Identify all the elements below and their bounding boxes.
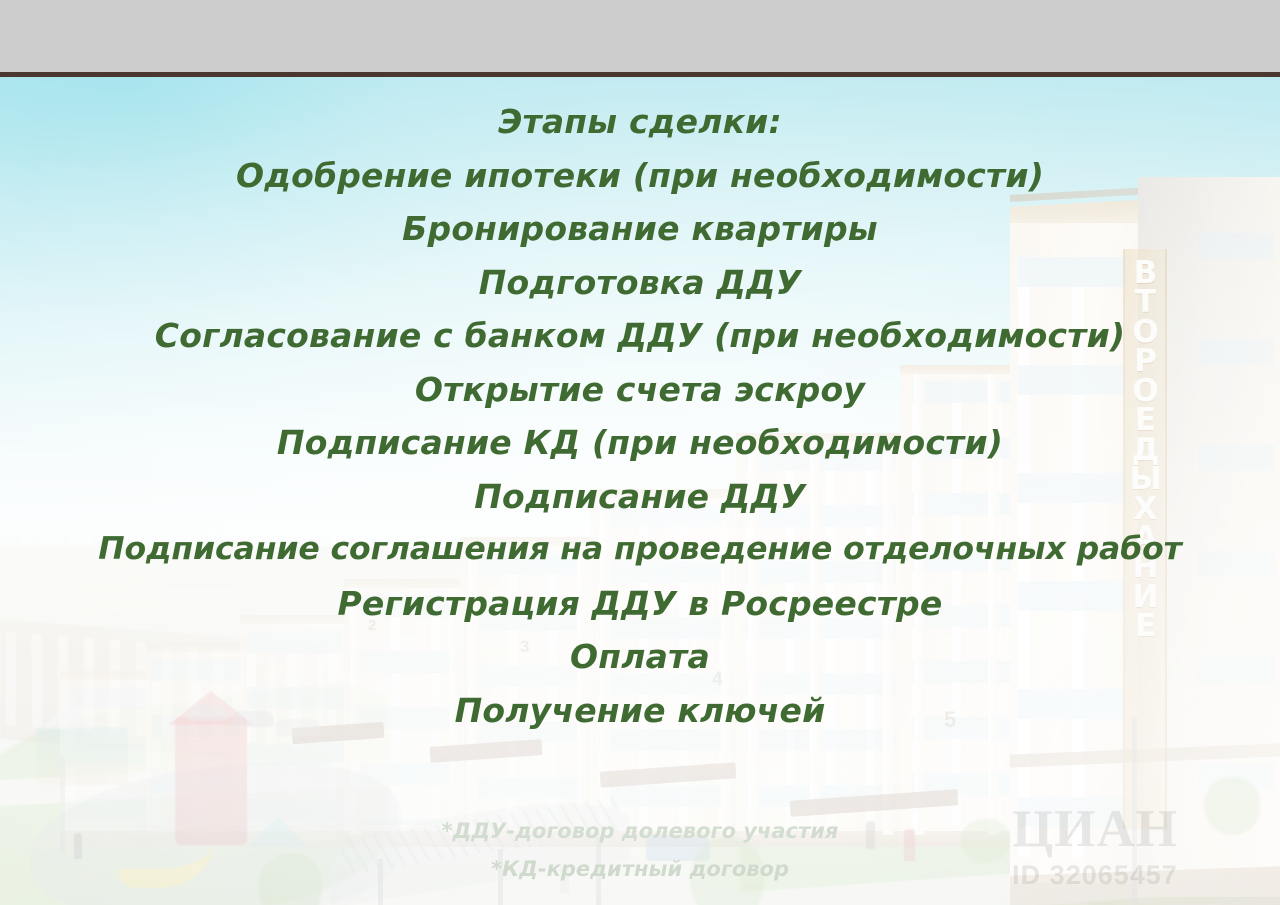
step-item: Одобрение ипотеки (при необходимости) bbox=[0, 149, 1280, 203]
step-item: Бронирование квартиры bbox=[0, 202, 1280, 256]
step-item: Подписание ДДУ bbox=[0, 470, 1280, 524]
step-item: Подготовка ДДУ bbox=[0, 256, 1280, 310]
step-item: Подписание соглашения на проведение отде… bbox=[0, 523, 1280, 577]
step-item: Получение ключей bbox=[0, 684, 1280, 738]
step-item: Оплата bbox=[0, 630, 1280, 684]
step-item: Согласование с банком ДДУ (при необходим… bbox=[0, 309, 1280, 363]
background-photo: 2 3 4 5 В Т О Р О Е Д Ы Х bbox=[0, 77, 1280, 905]
step-item: Регистрация ДДУ в Росреестре bbox=[0, 577, 1280, 631]
step-item: Подписание КД (при необходимости) bbox=[0, 416, 1280, 470]
page-header bbox=[0, 0, 1280, 72]
slide-text-overlay: Этапы сделки: Одобрение ипотеки (при нео… bbox=[0, 77, 1280, 905]
slide-heading: Этапы сделки: bbox=[0, 95, 1280, 149]
header-divider bbox=[0, 72, 1280, 77]
step-item: Открытие счета эскроу bbox=[0, 363, 1280, 417]
presentation-slide: ЖК второе Дыхание строение 5 bbox=[0, 0, 1280, 905]
